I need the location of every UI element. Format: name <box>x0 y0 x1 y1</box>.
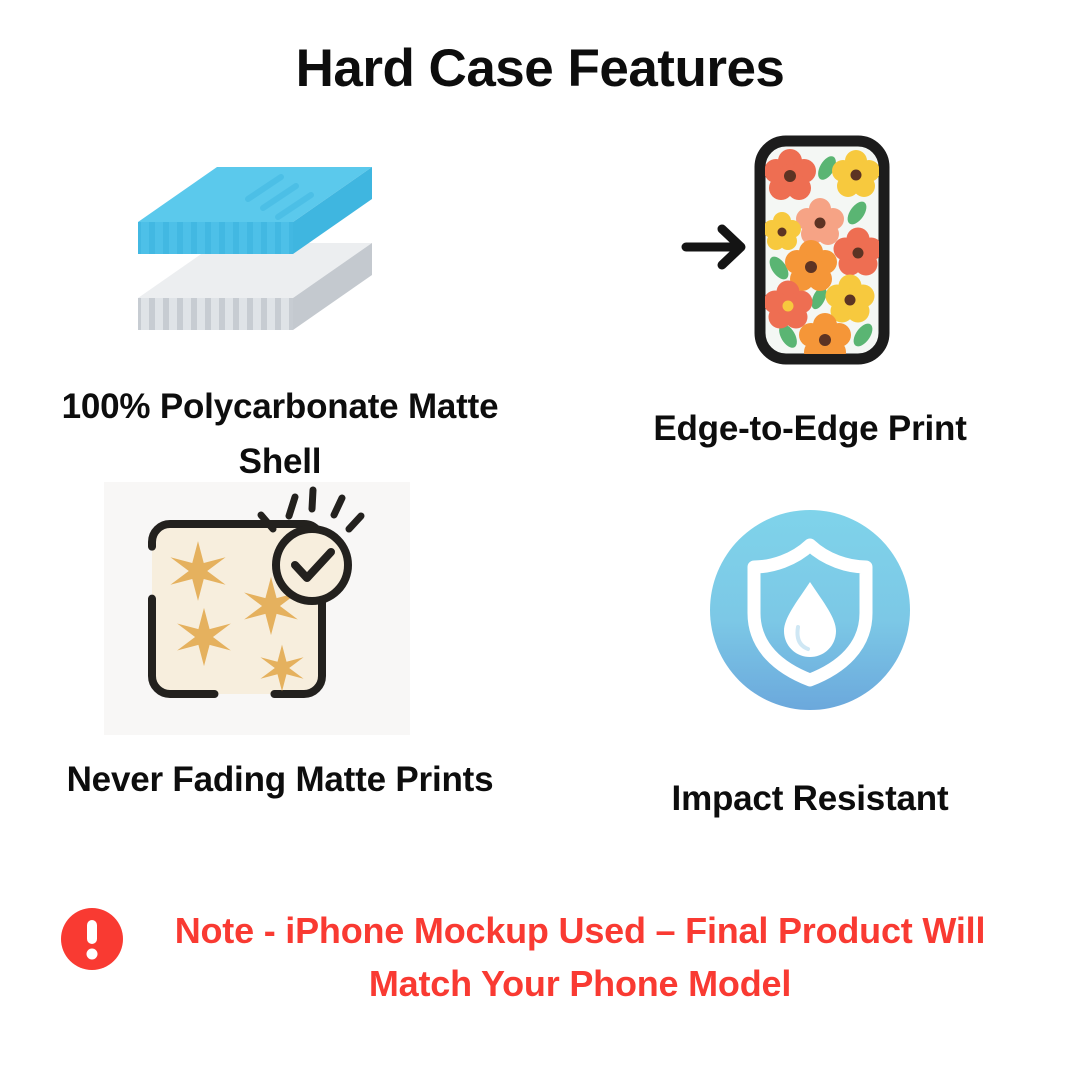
floral-phone-case-icon <box>678 128 948 383</box>
feature-label-edge-print: Edge-to-Edge Print <box>560 401 1060 456</box>
feature-art-polycarbonate <box>30 150 530 365</box>
feature-impact: Impact Resistant <box>560 500 1060 826</box>
arrow-right-icon <box>686 229 741 265</box>
feature-polycarbonate: 100% Polycarbonate Matte Shell <box>30 150 530 490</box>
feature-edge-print: Edge-to-Edge Print <box>560 120 1060 456</box>
feature-label-impact: Impact Resistant <box>560 771 1060 826</box>
disclaimer-note: Note - iPhone Mockup Used – Final Produc… <box>0 905 1080 1011</box>
feature-art-never-fading <box>30 470 530 740</box>
exclamation-circle-icon <box>60 907 124 971</box>
sparkle-check-square-icon <box>130 488 390 738</box>
bottom-slab <box>138 243 372 330</box>
feature-never-fading: Never Fading Matte Prints <box>30 470 530 807</box>
page-title: Hard Case Features <box>0 38 1080 99</box>
water-shield-icon <box>710 510 910 710</box>
infographic-page: Hard Case Features <box>0 0 1080 1080</box>
phone-case <box>760 141 884 364</box>
feature-art-impact <box>560 500 1060 745</box>
top-slab <box>138 167 372 254</box>
layered-slabs-icon <box>135 150 445 365</box>
feature-art-edge-print <box>560 120 1060 385</box>
disclaimer-note-text: Note - iPhone Mockup Used – Final Produc… <box>140 905 1020 1011</box>
feature-label-never-fading: Never Fading Matte Prints <box>30 752 530 807</box>
